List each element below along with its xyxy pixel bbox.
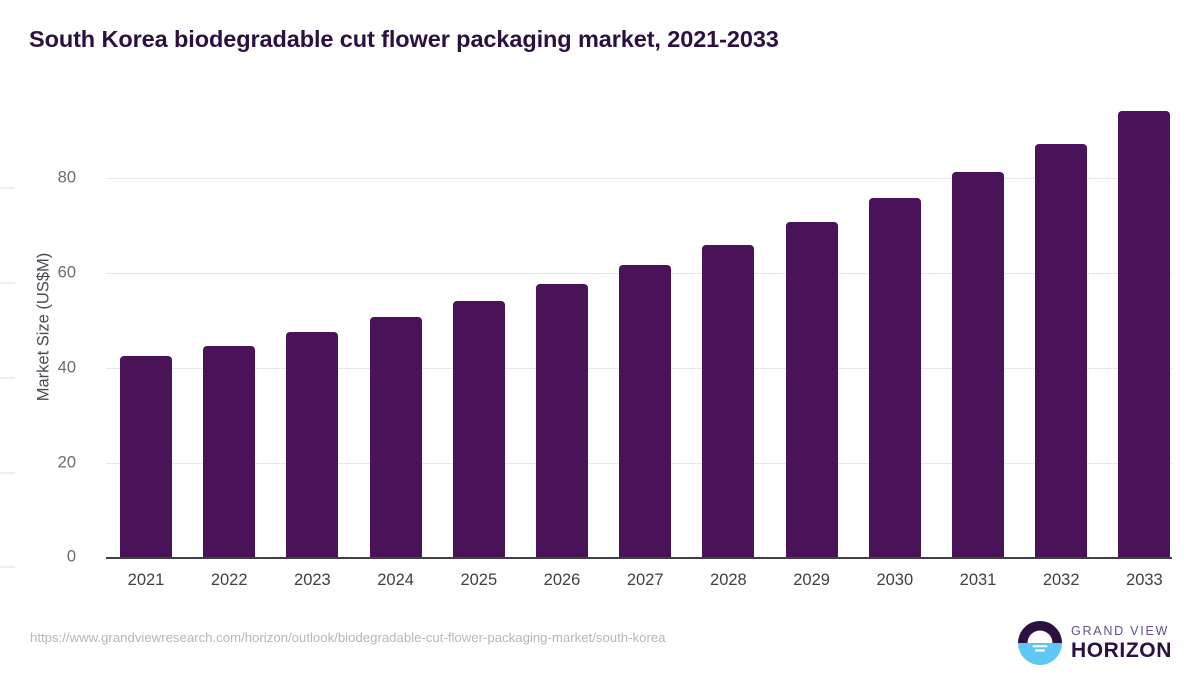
bar[interactable] (786, 222, 838, 557)
x-axis-line (106, 557, 1172, 559)
x-tick-label: 2027 (600, 571, 690, 590)
y-tick-label: 0 (16, 548, 76, 567)
x-tick-label: 2024 (351, 571, 441, 590)
bar[interactable] (120, 356, 172, 557)
y-tick-mark (0, 472, 15, 473)
x-tick-label: 2033 (1099, 571, 1189, 590)
x-tick-label: 2025 (434, 571, 524, 590)
x-tick-label: 2026 (517, 571, 607, 590)
x-tick-label: 2021 (101, 571, 191, 590)
brand-logo[interactable]: GRAND VIEW HORIZON (1018, 620, 1172, 666)
logo-wordmark: GRAND VIEW HORIZON (1071, 625, 1172, 662)
x-tick-label: 2029 (767, 571, 857, 590)
y-tick-mark (0, 377, 15, 378)
bar[interactable] (1035, 144, 1087, 558)
gridline (106, 178, 1172, 179)
x-tick-label: 2032 (1016, 571, 1106, 590)
chart-page: South Korea biodegradable cut flower pac… (0, 0, 1200, 675)
x-tick-label: 2030 (850, 571, 940, 590)
y-tick-mark (0, 188, 15, 189)
bar[interactable] (370, 317, 422, 558)
bar[interactable] (453, 301, 505, 557)
y-tick-label: 80 (16, 169, 76, 188)
bar[interactable] (869, 198, 921, 558)
horizon-circle-icon (1018, 621, 1062, 665)
plot-area: Market Size (US$M) 020406080 20212022202… (106, 94, 1172, 559)
bar[interactable] (286, 332, 338, 557)
page-title: South Korea biodegradable cut flower pac… (29, 26, 779, 53)
x-tick-label: 2022 (184, 571, 274, 590)
bar[interactable] (203, 346, 255, 558)
x-tick-label: 2023 (267, 571, 357, 590)
x-tick-label: 2031 (933, 571, 1023, 590)
y-tick-mark (0, 283, 15, 284)
source-url[interactable]: https://www.grandviewresearch.com/horizo… (30, 630, 666, 645)
y-tick-label: 40 (16, 358, 76, 377)
y-tick-mark (0, 567, 15, 568)
bar[interactable] (702, 245, 754, 557)
x-tick-label: 2028 (683, 571, 773, 590)
y-tick-label: 20 (16, 453, 76, 472)
logo-bottom-text: HORIZON (1071, 640, 1172, 661)
y-tick-label: 60 (16, 264, 76, 283)
bar[interactable] (536, 284, 588, 558)
bar[interactable] (952, 172, 1004, 558)
bar[interactable] (619, 265, 671, 557)
logo-top-text: GRAND VIEW (1071, 625, 1172, 638)
bar[interactable] (1118, 111, 1170, 558)
